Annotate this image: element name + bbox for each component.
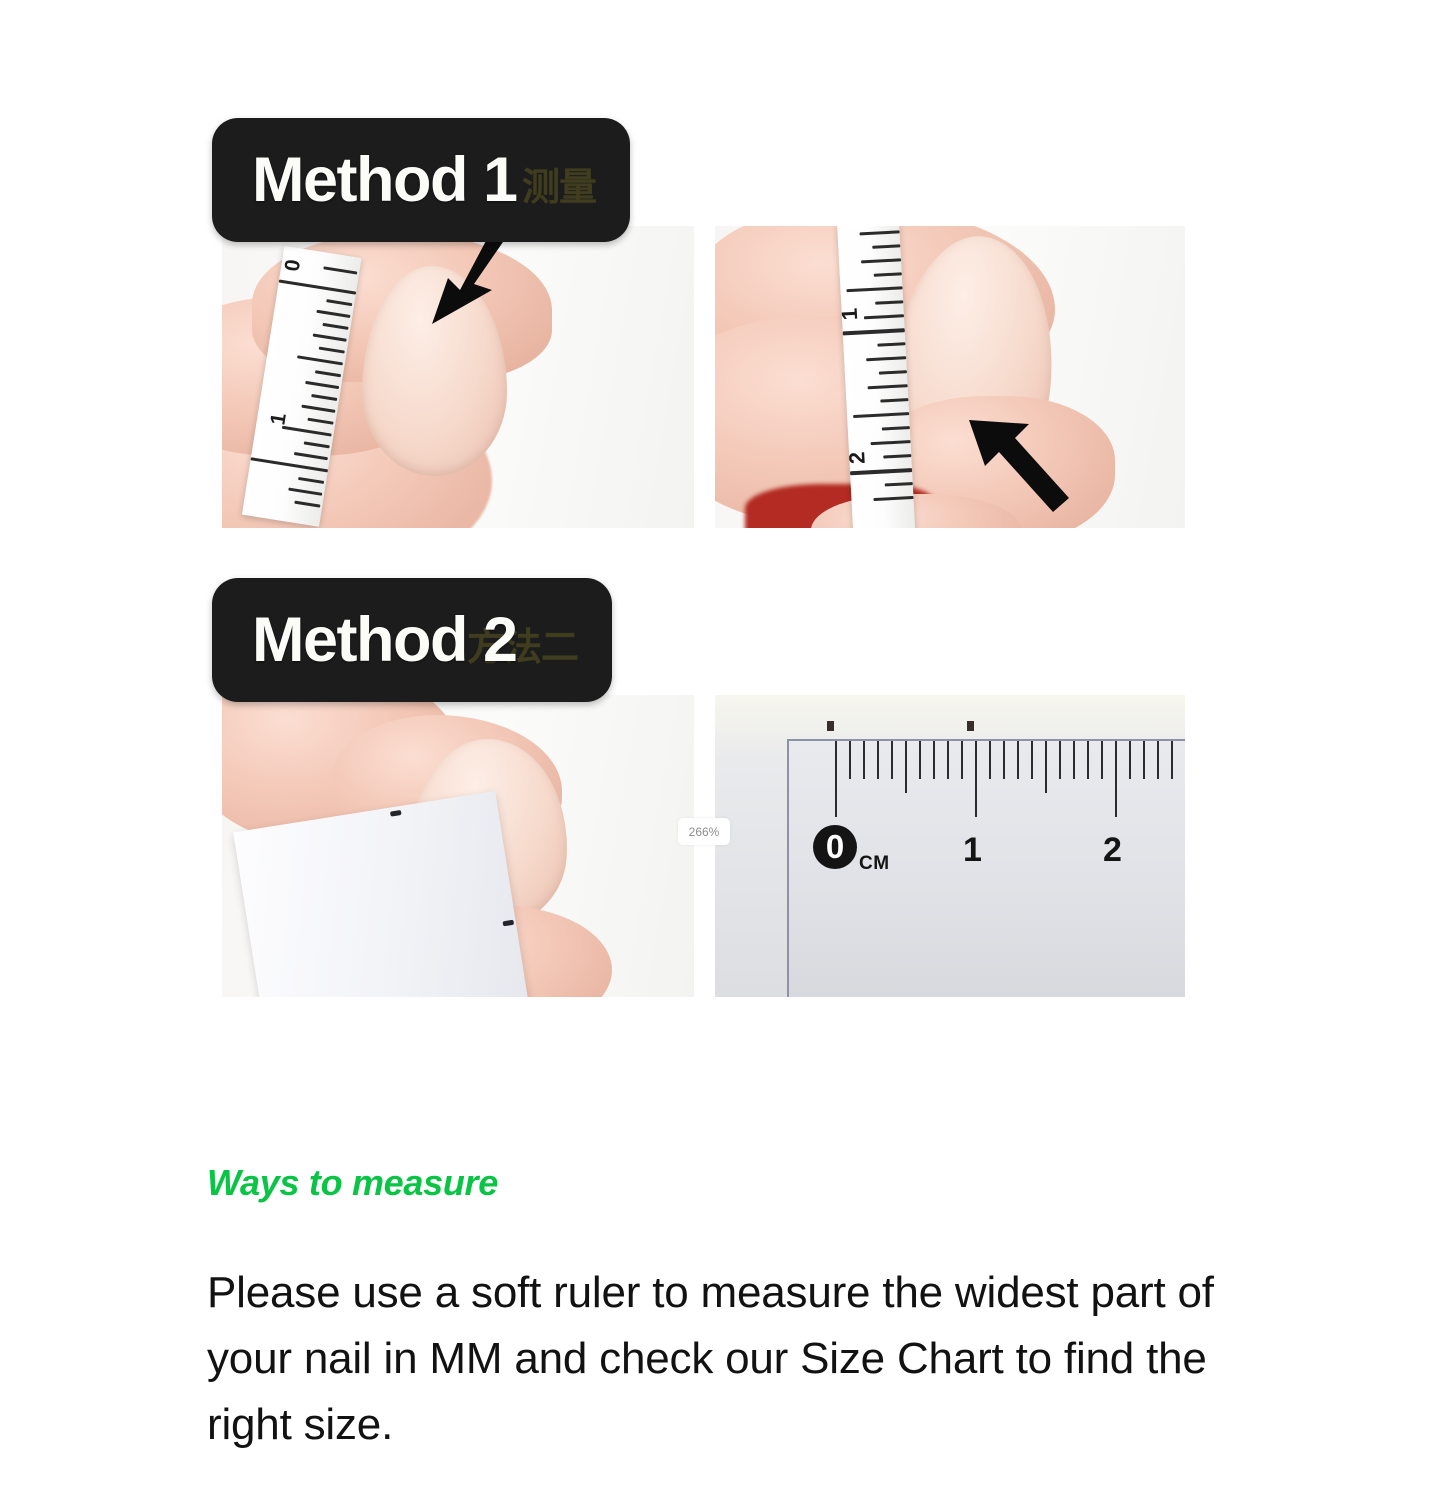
- pointer-arrow: [402, 226, 532, 340]
- tape-number-1: 1: [266, 412, 292, 427]
- zoom-level-badge[interactable]: 266%: [678, 818, 730, 845]
- ways-to-measure-heading: Ways to measure: [207, 1162, 1247, 1204]
- tape-number-0: 0: [281, 258, 307, 273]
- pointer-arrow: [957, 414, 1087, 528]
- ruler-body: 0 CM 1 2 3: [787, 739, 1185, 997]
- pen-mark-top: [390, 810, 402, 817]
- method-2-badge-label: Method 2: [212, 604, 517, 676]
- tape-number-2: 2: [844, 451, 871, 465]
- method-2-photo-right: 0 CM 1 2 3: [715, 695, 1185, 997]
- ruler-top-mark-left: [827, 721, 834, 731]
- ruler-tick-label-1: 1: [963, 831, 982, 870]
- tape-number-1: 1: [837, 307, 864, 321]
- ruler-tick-label-2: 2: [1103, 831, 1122, 870]
- ruler-zero-marker: 0: [813, 825, 857, 869]
- method-1-badge: 测量 Method 1: [212, 118, 630, 242]
- pen-mark-bottom: [502, 920, 514, 927]
- method-1-badge-ghost-text: 测量: [522, 156, 596, 211]
- method-1-photo-left: 0 1: [222, 226, 694, 528]
- method-2-photo-row: 0 CM 1 2 3: [222, 695, 1185, 997]
- method-1-badge-label: Method 1: [212, 144, 517, 216]
- method-2-photo-left: [222, 695, 694, 997]
- measure-instructions-paragraph: Please use a soft ruler to measure the w…: [207, 1260, 1237, 1458]
- measure-text-block: Ways to measure Please use a soft ruler …: [207, 1162, 1247, 1458]
- ruler-unit-label: CM: [859, 853, 890, 875]
- method-1-photo-right: 1 2: [715, 226, 1185, 528]
- ruler-top-mark-right: [967, 721, 974, 731]
- method-2-badge: 方法二 Method 2: [212, 578, 612, 702]
- method-1-photo-row: 0 1: [222, 226, 1185, 528]
